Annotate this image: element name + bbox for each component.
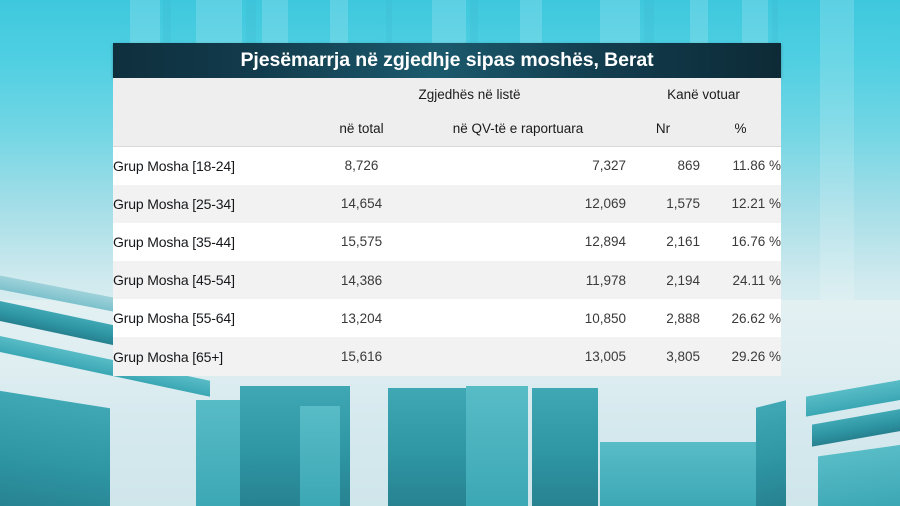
table-body: Grup Mosha [18-24] 8,726 7,327 869 11.86… [113, 147, 781, 376]
background-slab-center-3 [300, 406, 340, 506]
row-nr: 1,575 [626, 185, 700, 223]
background-slab-center-5 [466, 386, 528, 506]
row-nr: 2,888 [626, 299, 700, 337]
background-slab-right-2 [756, 400, 786, 506]
row-reported-qv: 12,069 [410, 185, 626, 223]
row-total: 8,726 [313, 147, 410, 185]
table-row: Grup Mosha [35-44] 15,575 12,894 2,161 1… [113, 223, 781, 261]
row-reported-qv: 7,327 [410, 147, 626, 185]
background-column-16 [820, 0, 854, 300]
row-label: Grup Mosha [35-44] [113, 223, 313, 261]
table-row: Grup Mosha [55-64] 13,204 10,850 2,888 2… [113, 299, 781, 337]
table-row: Grup Mosha [18-24] 8,726 7,327 869 11.86… [113, 147, 781, 185]
table-column-header-row: në total në QV-të e raportuara Nr % [113, 110, 781, 147]
row-label: Grup Mosha [25-34] [113, 185, 313, 223]
row-nr: 869 [626, 147, 700, 185]
row-total: 15,575 [313, 223, 410, 261]
header-group-voters-on-list: Zgjedhës në listë [313, 78, 626, 110]
row-reported-qv: 13,005 [410, 337, 626, 375]
header-reported-qv: në QV-të e raportuara [410, 110, 626, 147]
header-group-have-voted: Kanë votuar [626, 78, 781, 110]
row-total: 13,204 [313, 299, 410, 337]
participation-table: Zgjedhës në listë Kanë votuar në total n… [113, 78, 781, 376]
background-slab-center-6 [532, 388, 598, 506]
table-row: Grup Mosha [45-54] 14,386 11,978 2,194 2… [113, 261, 781, 299]
row-label: Grup Mosha [55-64] [113, 299, 313, 337]
header-total: në total [313, 110, 410, 147]
row-nr: 3,805 [626, 337, 700, 375]
row-pct: 11.86 % [700, 147, 781, 185]
row-reported-qv: 12,894 [410, 223, 626, 261]
row-label: Grup Mosha [18-24] [113, 147, 313, 185]
row-pct: 12.21 % [700, 185, 781, 223]
row-nr: 2,161 [626, 223, 700, 261]
table-group-header-row: Zgjedhës në listë Kanë votuar [113, 78, 781, 110]
row-label: Grup Mosha [45-54] [113, 261, 313, 299]
table-row: Grup Mosha [25-34] 14,654 12,069 1,575 1… [113, 185, 781, 223]
row-pct: 26.62 % [700, 299, 781, 337]
statistics-table-card: Pjesëmarrja në zgjedhje sipas moshës, Be… [113, 43, 781, 376]
row-reported-qv: 11,978 [410, 261, 626, 299]
header-nr: Nr [626, 110, 700, 147]
row-total: 14,654 [313, 185, 410, 223]
row-pct: 24.11 % [700, 261, 781, 299]
background-slab-center-4 [388, 388, 466, 506]
row-pct: 16.76 % [700, 223, 781, 261]
row-total: 14,386 [313, 261, 410, 299]
row-total: 15,616 [313, 337, 410, 375]
table-title-bar: Pjesëmarrja në zgjedhje sipas moshës, Be… [113, 43, 781, 78]
header-label-column [113, 110, 313, 147]
header-spacer-cell [113, 78, 313, 110]
table-header: Zgjedhës në listë Kanë votuar në total n… [113, 78, 781, 147]
row-label: Grup Mosha [65+] [113, 337, 313, 375]
page-title: Pjesëmarrja në zgjedhje sipas moshës, Be… [241, 49, 654, 72]
header-pct: % [700, 110, 781, 147]
table-row: Grup Mosha [65+] 15,616 13,005 3,805 29.… [113, 337, 781, 375]
row-reported-qv: 10,850 [410, 299, 626, 337]
background-slab-right-1 [600, 442, 760, 506]
row-pct: 29.26 % [700, 337, 781, 375]
row-nr: 2,194 [626, 261, 700, 299]
